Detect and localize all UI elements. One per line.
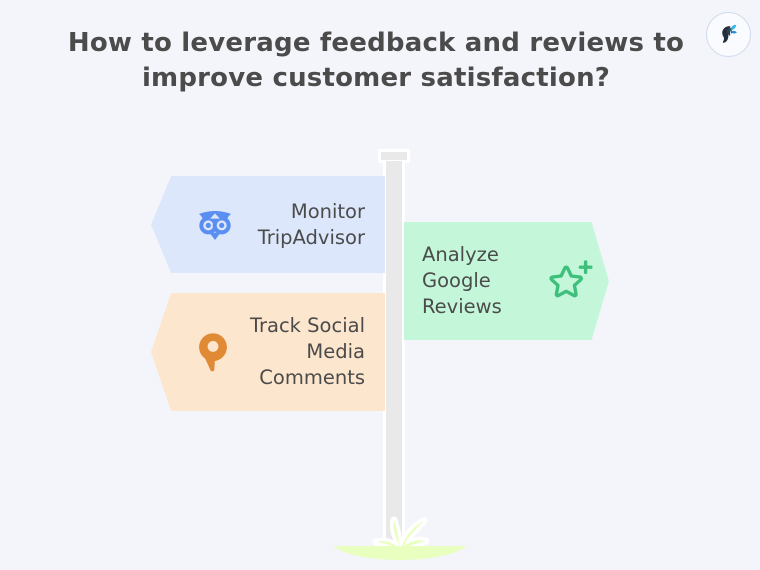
grass-mound-icon xyxy=(330,500,470,562)
signpost-shaft xyxy=(383,161,405,551)
sign-track-social-media-comments[interactable]: Track Social Media Comments xyxy=(151,293,385,411)
sign-analyze-google-reviews[interactable]: Analyze Google Reviews xyxy=(404,222,609,340)
sign-label-analyze-google-reviews: Analyze Google Reviews xyxy=(422,242,547,320)
tripadvisor-owl-icon xyxy=(195,205,235,245)
location-pin-icon xyxy=(193,332,233,372)
sign-monitor-tripadvisor[interactable]: Monitor TripAdvisor xyxy=(151,176,385,273)
signpost-graphic xyxy=(0,0,760,570)
star-plus-icon xyxy=(547,257,595,305)
sign-label-track-social-media-comments: Track Social Media Comments xyxy=(233,313,367,391)
sign-label-monitor-tripadvisor: Monitor TripAdvisor xyxy=(235,199,367,251)
